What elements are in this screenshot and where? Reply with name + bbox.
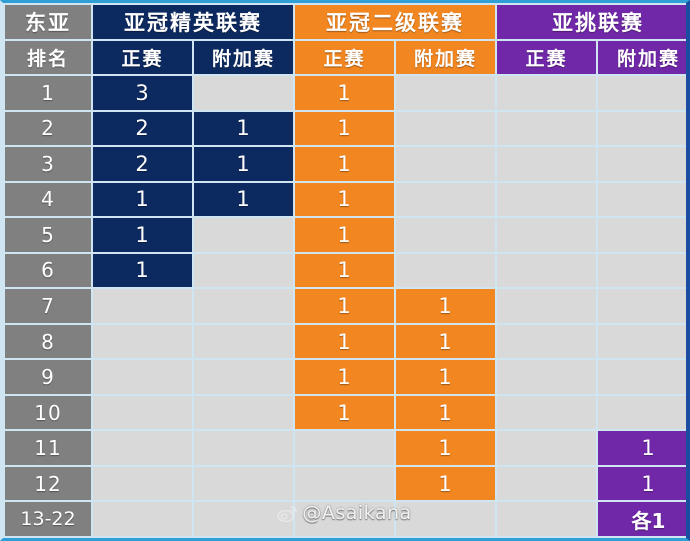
slot-cell xyxy=(497,112,596,146)
slot-cell: 1 xyxy=(295,325,394,359)
slot-cell xyxy=(295,502,394,536)
header-group-1: 亚冠精英联赛 xyxy=(93,5,293,39)
slot-cell xyxy=(598,218,690,252)
slot-allocation-table: 东亚亚冠精英联赛亚冠二级联赛亚挑联赛排名正赛附加赛正赛附加赛正赛附加赛13122… xyxy=(3,3,690,538)
slot-cell: 1 xyxy=(295,396,394,430)
slot-allocation-table-container: 东亚亚冠精英联赛亚冠二级联赛亚挑联赛排名正赛附加赛正赛附加赛正赛附加赛13122… xyxy=(0,0,690,541)
slot-cell xyxy=(598,147,690,181)
slot-cell xyxy=(93,467,192,501)
slot-cell: 3 xyxy=(93,76,192,110)
subheader-rank-label: 排名 xyxy=(5,41,91,75)
slot-cell xyxy=(194,289,293,323)
slot-cell: 1 xyxy=(396,396,495,430)
slot-cell: 1 xyxy=(396,360,495,394)
slot-cell xyxy=(194,254,293,288)
slot-cell: 1 xyxy=(295,76,394,110)
table-row: 2211 xyxy=(5,112,690,146)
slot-cell: 1 xyxy=(598,431,690,465)
slot-cell xyxy=(93,502,192,536)
slot-cell: 1 xyxy=(396,289,495,323)
slot-cell: 2 xyxy=(93,147,192,181)
table-row: 4111 xyxy=(5,183,690,217)
slot-cell: 1 xyxy=(295,218,394,252)
slot-cell xyxy=(598,76,690,110)
table-row: 3211 xyxy=(5,147,690,181)
table-header-row: 东亚亚冠精英联赛亚冠二级联赛亚挑联赛 xyxy=(5,5,690,39)
slot-cell xyxy=(497,289,596,323)
slot-cell xyxy=(497,396,596,430)
header-group-2: 亚冠二级联赛 xyxy=(295,5,495,39)
rank-cell: 13-22 xyxy=(5,502,91,536)
slot-cell: 1 xyxy=(295,254,394,288)
rank-cell: 8 xyxy=(5,325,91,359)
slot-cell xyxy=(194,360,293,394)
slot-cell xyxy=(93,396,192,430)
rank-cell: 12 xyxy=(5,467,91,501)
slot-cell xyxy=(497,76,596,110)
subheader-col-3: 正赛 xyxy=(295,41,394,75)
slot-cell xyxy=(295,467,394,501)
slot-cell: 1 xyxy=(295,112,394,146)
slot-cell xyxy=(497,502,596,536)
table-row: 13-22各1 xyxy=(5,502,690,536)
table-row: 1211 xyxy=(5,467,690,501)
slot-cell: 1 xyxy=(396,467,495,501)
slot-cell xyxy=(396,147,495,181)
slot-cell: 1 xyxy=(194,112,293,146)
slot-cell xyxy=(194,218,293,252)
slot-cell: 1 xyxy=(93,183,192,217)
slot-cell xyxy=(598,183,690,217)
rank-cell: 5 xyxy=(5,218,91,252)
slot-cell xyxy=(396,112,495,146)
table-row: 131 xyxy=(5,76,690,110)
table-row: 511 xyxy=(5,218,690,252)
rank-cell: 9 xyxy=(5,360,91,394)
slot-cell xyxy=(396,183,495,217)
slot-cell xyxy=(194,431,293,465)
slot-cell xyxy=(93,360,192,394)
rank-cell: 11 xyxy=(5,431,91,465)
slot-cell: 1 xyxy=(93,254,192,288)
header-region-label: 东亚 xyxy=(5,5,91,39)
slot-cell xyxy=(497,254,596,288)
slot-cell: 1 xyxy=(295,147,394,181)
slot-cell xyxy=(295,431,394,465)
slot-cell xyxy=(194,325,293,359)
slot-cell xyxy=(598,360,690,394)
subheader-col-5: 正赛 xyxy=(497,41,596,75)
rank-cell: 7 xyxy=(5,289,91,323)
slot-cell: 1 xyxy=(295,360,394,394)
rank-cell: 2 xyxy=(5,112,91,146)
slot-cell xyxy=(497,467,596,501)
slot-cell: 1 xyxy=(598,467,690,501)
slot-cell: 1 xyxy=(194,183,293,217)
slot-cell xyxy=(497,431,596,465)
table-row: 1011 xyxy=(5,396,690,430)
slot-cell xyxy=(194,502,293,536)
subheader-col-6: 附加赛 xyxy=(598,41,690,75)
slot-cell: 1 xyxy=(396,325,495,359)
slot-cell xyxy=(396,76,495,110)
slot-cell: 1 xyxy=(295,289,394,323)
table-row: 811 xyxy=(5,325,690,359)
slot-cell xyxy=(497,218,596,252)
slot-cell xyxy=(93,325,192,359)
slot-cell: 1 xyxy=(194,147,293,181)
subheader-col-1: 正赛 xyxy=(93,41,192,75)
slot-cell: 1 xyxy=(396,431,495,465)
slot-cell xyxy=(194,467,293,501)
table-row: 611 xyxy=(5,254,690,288)
table-subheader-row: 排名正赛附加赛正赛附加赛正赛附加赛 xyxy=(5,41,690,75)
slot-cell xyxy=(93,431,192,465)
slot-cell xyxy=(497,360,596,394)
slot-cell xyxy=(598,112,690,146)
slot-cell xyxy=(194,396,293,430)
table-row: 711 xyxy=(5,289,690,323)
slot-cell xyxy=(396,502,495,536)
table-row: 1111 xyxy=(5,431,690,465)
rank-cell: 10 xyxy=(5,396,91,430)
rank-cell: 3 xyxy=(5,147,91,181)
rank-cell: 4 xyxy=(5,183,91,217)
rank-cell: 1 xyxy=(5,76,91,110)
slot-cell xyxy=(598,289,690,323)
slot-cell: 1 xyxy=(295,183,394,217)
rank-cell: 6 xyxy=(5,254,91,288)
subheader-col-4: 附加赛 xyxy=(396,41,495,75)
slot-cell xyxy=(598,396,690,430)
slot-cell: 2 xyxy=(93,112,192,146)
slot-cell xyxy=(598,254,690,288)
slot-cell: 1 xyxy=(93,218,192,252)
subheader-col-2: 附加赛 xyxy=(194,41,293,75)
slot-cell xyxy=(93,289,192,323)
slot-cell xyxy=(497,325,596,359)
slot-cell xyxy=(396,254,495,288)
slot-cell xyxy=(598,325,690,359)
slot-cell xyxy=(497,183,596,217)
slot-cell xyxy=(497,147,596,181)
slot-cell xyxy=(396,218,495,252)
header-group-3: 亚挑联赛 xyxy=(497,5,690,39)
slot-cell: 各1 xyxy=(598,502,690,536)
table-row: 911 xyxy=(5,360,690,394)
slot-cell xyxy=(194,76,293,110)
